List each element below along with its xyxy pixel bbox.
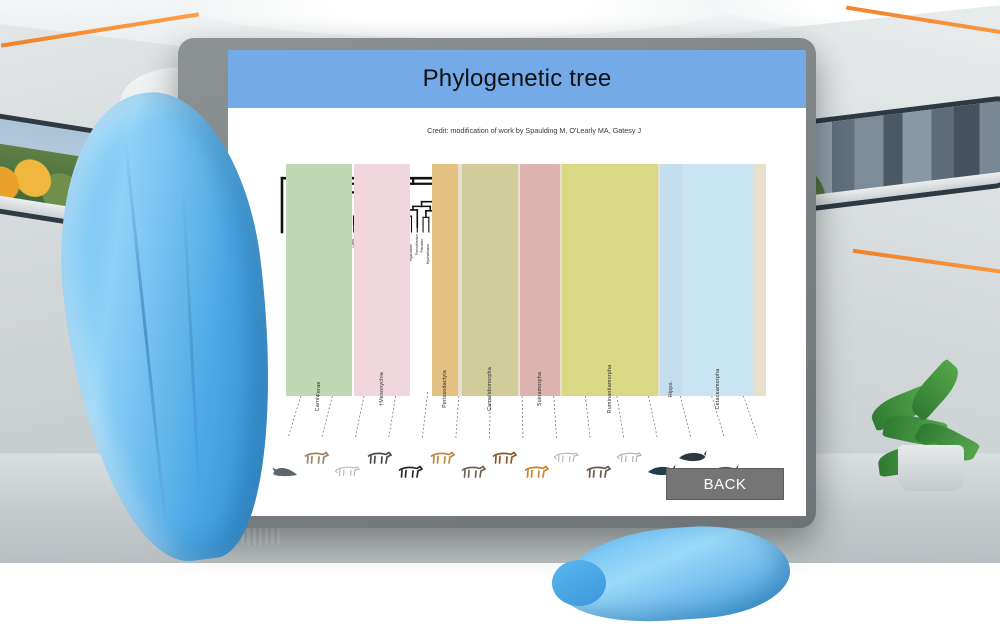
clade-band-label: Perissodactyla — [442, 370, 448, 408]
clade-band: Camelidomorpha — [462, 164, 518, 396]
animal-deer-skeleton — [552, 447, 582, 472]
clade-band: Cetaceamorpha — [682, 164, 754, 396]
taxon-label: Thereutherium — [416, 234, 419, 255]
leader-line-layer — [272, 392, 770, 440]
animal-peccary — [458, 461, 488, 486]
tablet-device: Phylogenetic tree Credit: modification o… — [178, 38, 816, 528]
phylogenetic-tree-figure: †CreodontaCarnivoramorphaFerae†Mesonychi… — [272, 142, 770, 452]
credit-text: Credit: modification of work by Spauldin… — [427, 126, 641, 135]
page-title: Phylogenetic tree — [423, 65, 612, 93]
clade-band-label: Ferae — [316, 381, 322, 396]
taxon-label: Hyainailouros — [427, 244, 430, 264]
tablet-corner-accent — [176, 476, 230, 530]
clade-band-label: †Mesonychia — [379, 372, 385, 406]
back-button[interactable]: BACK — [666, 468, 784, 500]
clade-band-label: Hippo. — [668, 381, 674, 398]
clade-band-layer: †CreodontaCarnivoramorphaFerae†Mesonychi… — [272, 164, 770, 396]
clade-band-label: Cetaceamorpha — [715, 369, 721, 410]
app-content-area: Credit: modification of work by Spauldin… — [228, 108, 806, 516]
clade-band: †Mesonychia — [354, 164, 410, 396]
clade-band: Perissodactyla — [432, 164, 458, 396]
back-button-label: BACK — [704, 476, 747, 493]
animal-cat-skeleton — [333, 461, 363, 486]
clade-band: Hippo. — [660, 164, 682, 396]
clade-band-label: Suinamorpha — [537, 372, 543, 406]
animal-archaeocete-skel — [615, 447, 645, 472]
clade-band: Ruminantiamorpha — [562, 164, 658, 396]
taxon-label: Hyaenodon — [410, 244, 413, 261]
clade-band: Suinamorpha — [520, 164, 560, 396]
animal-tapir — [395, 461, 425, 486]
taxon-label: Pterodon — [421, 239, 424, 252]
animal-deer — [521, 461, 551, 486]
clade-band-label: Ruminantiamorpha — [607, 365, 613, 414]
animal-wild-boar — [489, 447, 519, 472]
animal-seal — [270, 461, 300, 486]
animal-zebra — [364, 447, 394, 472]
clade-band: Ferae — [286, 164, 352, 396]
app-header-bar: Phylogenetic tree — [228, 50, 806, 108]
tablet-screen: Phylogenetic tree Credit: modification o… — [228, 50, 806, 516]
animal-camel — [427, 447, 457, 472]
clade-band-label: Camelidomorpha — [487, 367, 493, 411]
potted-plant — [870, 355, 990, 485]
animal-hippo — [583, 461, 613, 486]
animal-mustelid — [301, 447, 331, 472]
